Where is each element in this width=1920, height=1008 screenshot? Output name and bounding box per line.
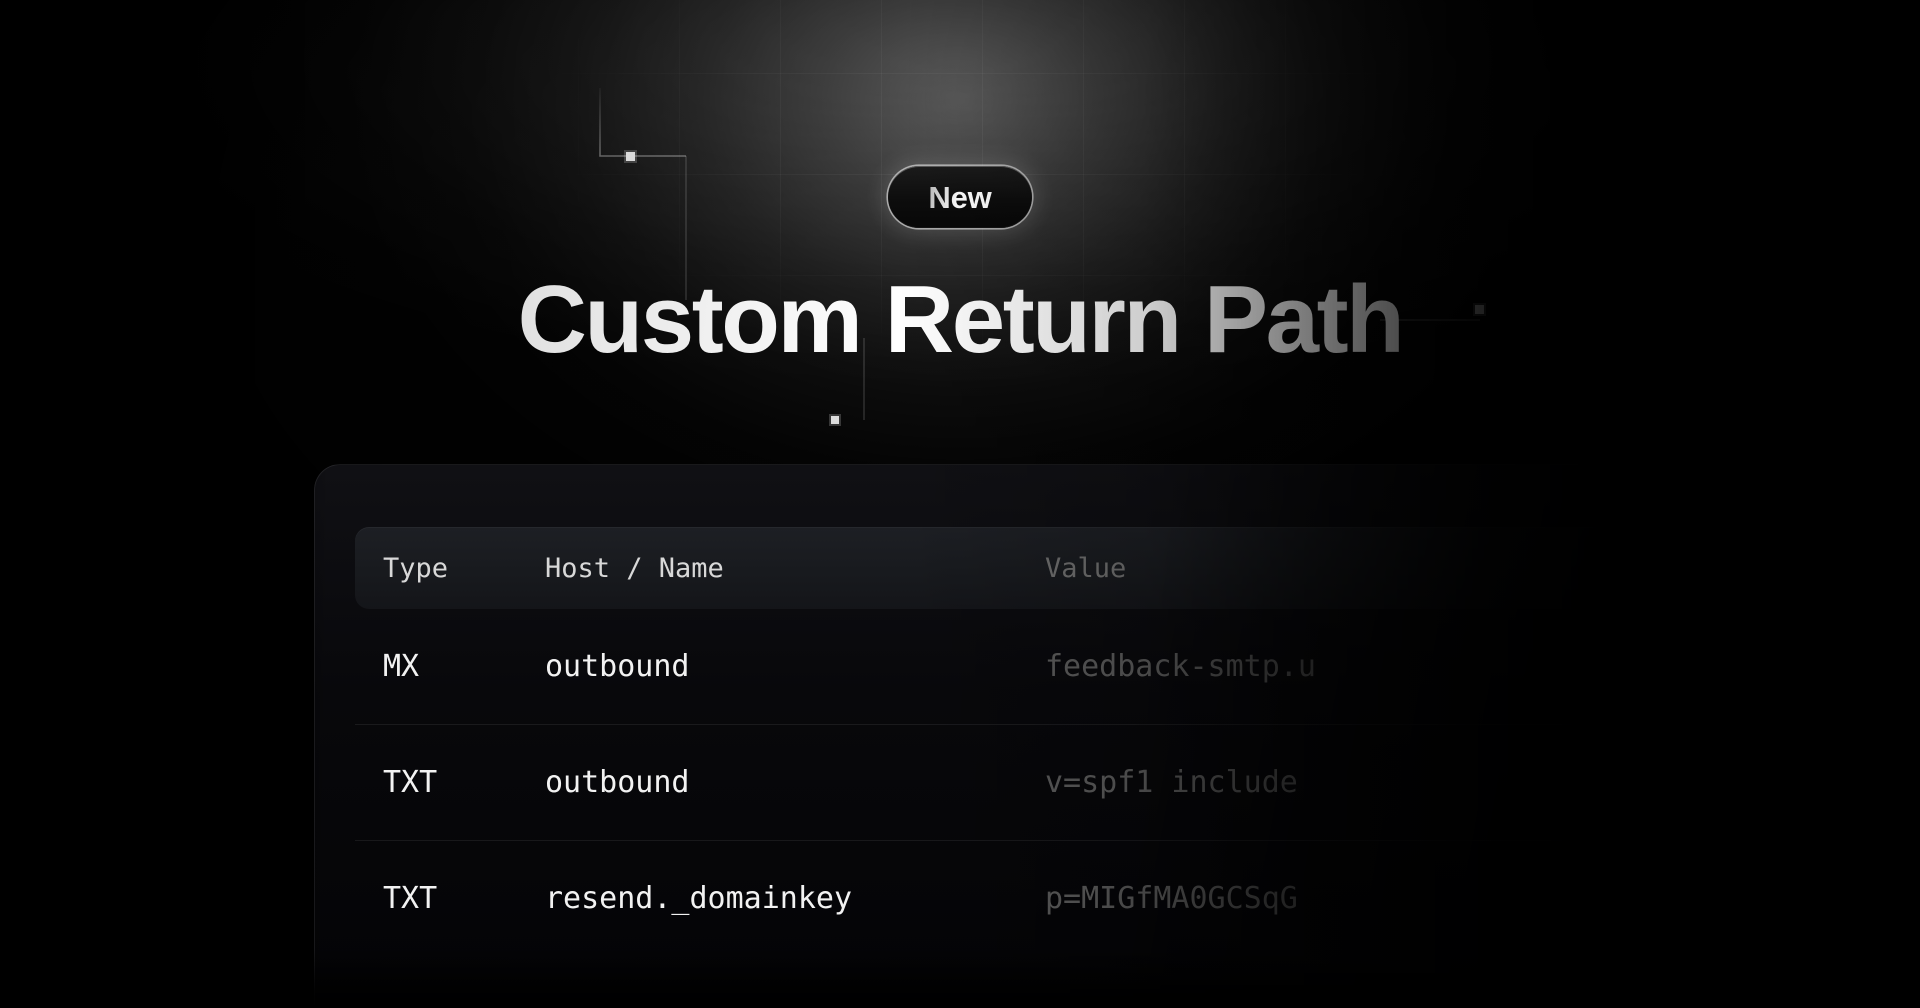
new-badge: New bbox=[888, 166, 1032, 228]
table-header-row: Type Host / Name Value bbox=[355, 527, 1815, 609]
column-header-type: Type bbox=[355, 553, 545, 584]
table-row[interactable]: MX outbound feedback-smtp.u bbox=[355, 609, 1815, 725]
cell-record-type: TXT bbox=[355, 881, 545, 916]
page-title: Custom Return Path bbox=[0, 272, 1920, 368]
hero-banner: New Custom Return Path Type Host / Name … bbox=[0, 0, 1920, 1008]
dns-records-table: Type Host / Name Value MX outbound bbox=[355, 527, 1815, 956]
cell-record-value: p=MIGfMA0GCSqG bbox=[1045, 881, 1815, 916]
cell-record-host: outbound bbox=[545, 649, 1045, 684]
table-row[interactable]: TXT outbound v=spf1 include bbox=[355, 725, 1815, 841]
cell-record-host: resend._domainkey bbox=[545, 881, 1045, 916]
cell-record-value: feedback-smtp.u bbox=[1045, 649, 1815, 684]
device-panel: Type Host / Name Value MX outbound bbox=[314, 464, 1856, 1008]
table-row[interactable]: TXT resend._domainkey p=MIGfMA0GCSqG bbox=[355, 841, 1815, 956]
cell-record-type: TXT bbox=[355, 765, 545, 800]
new-badge-label: New bbox=[928, 182, 991, 213]
cell-record-value: v=spf1 include bbox=[1045, 765, 1815, 800]
column-header-host: Host / Name bbox=[545, 553, 1045, 584]
cell-record-type: MX bbox=[355, 649, 545, 684]
column-header-value: Value bbox=[1045, 553, 1815, 584]
device-screen: Type Host / Name Value MX outbound bbox=[355, 527, 1815, 1008]
cell-record-host: outbound bbox=[545, 765, 1045, 800]
